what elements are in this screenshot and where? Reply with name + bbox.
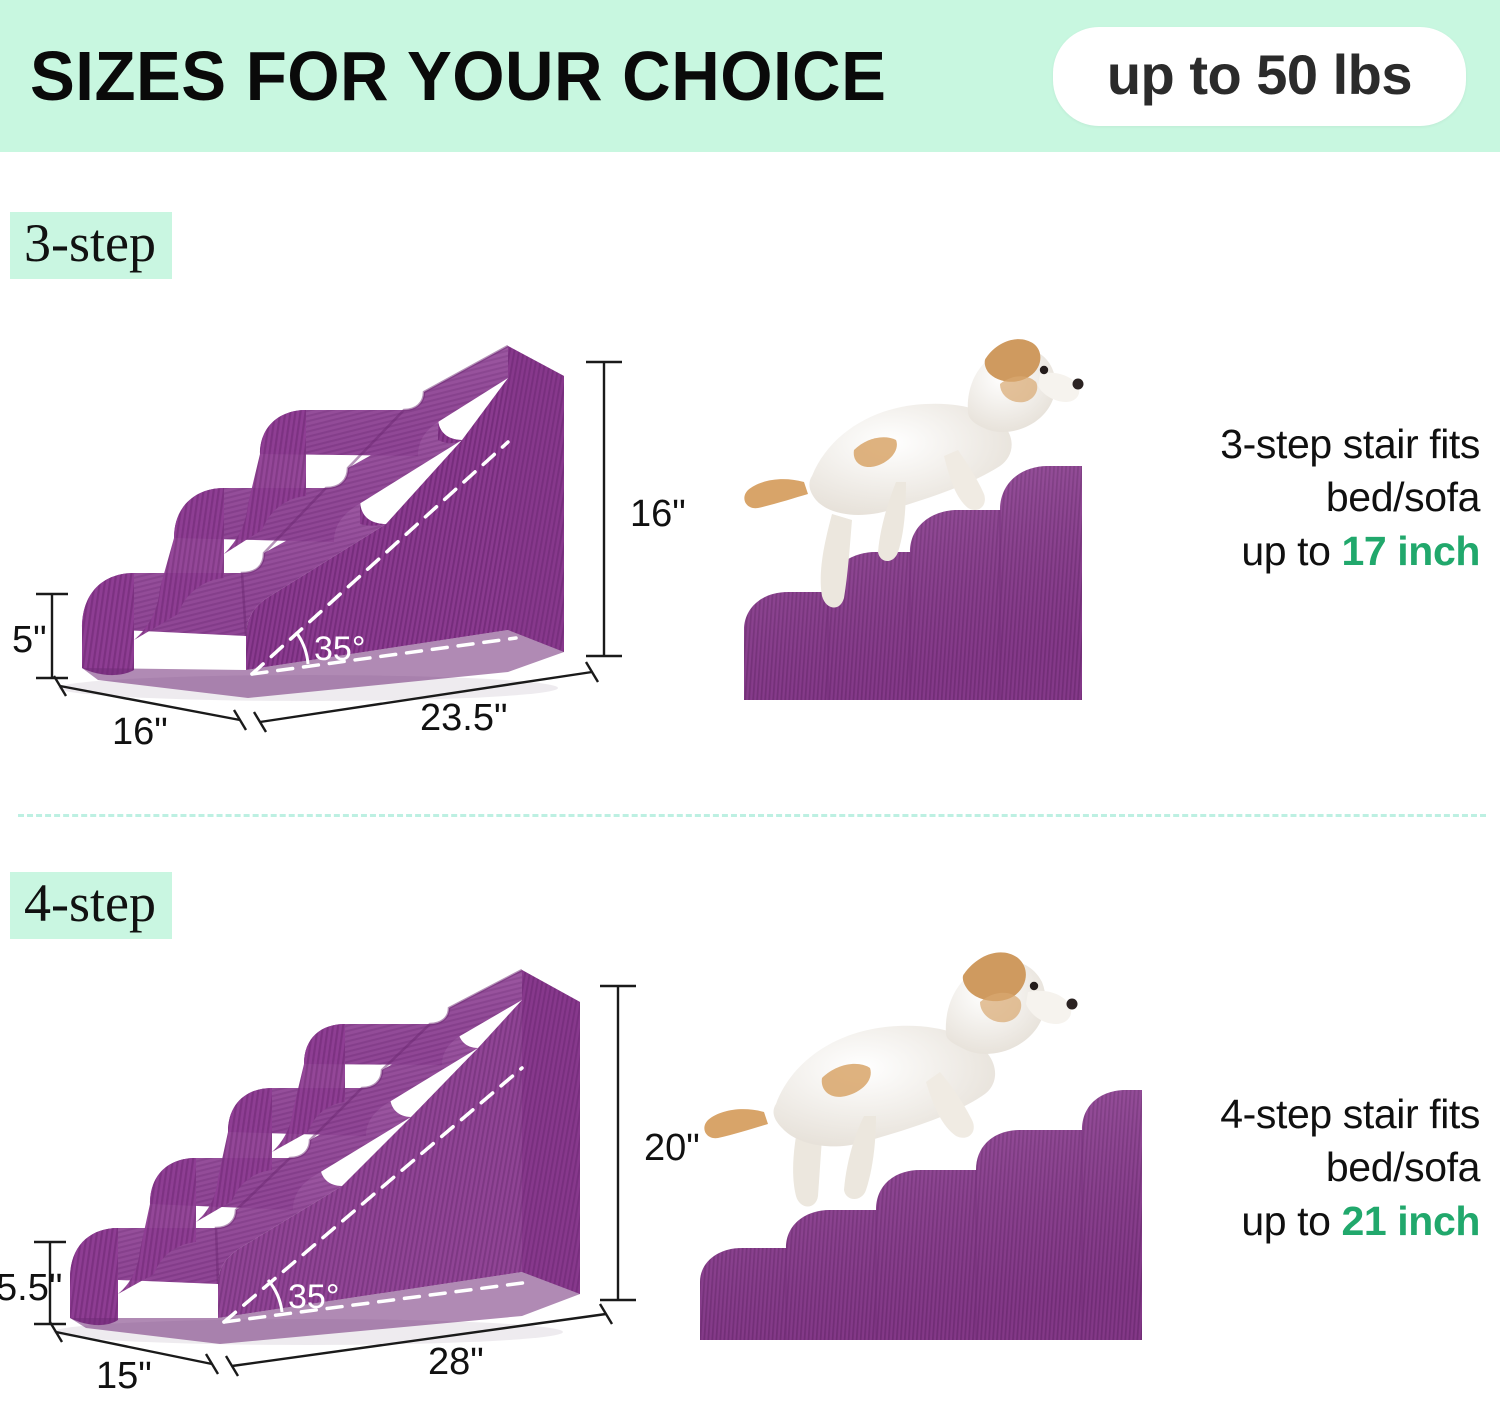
stair-side-view bbox=[700, 1090, 1142, 1340]
dog-tail bbox=[744, 479, 808, 508]
angle-label-4-step: 35° bbox=[288, 1278, 339, 1316]
page-title: SIZES FOR YOUR CHOICE bbox=[30, 36, 886, 116]
dog-nose bbox=[1067, 999, 1078, 1010]
description-3-step: 3-step stair fits bed/sofa up to 17 inch bbox=[1140, 418, 1480, 578]
section-label-3-step: 3-step bbox=[10, 212, 172, 279]
desc-prefix: up to bbox=[1241, 528, 1341, 574]
header-banner: SIZES FOR YOUR CHOICE up to 50 lbs bbox=[0, 0, 1500, 152]
desc-line-3: up to 17 inch bbox=[1140, 525, 1480, 578]
dog-eye bbox=[1040, 366, 1048, 374]
angle-label-3-step: 35° bbox=[314, 630, 365, 668]
dog-nose bbox=[1073, 379, 1084, 390]
desc-line-1: 4-step stair fits bbox=[1140, 1088, 1480, 1141]
dog-eye bbox=[1030, 982, 1038, 990]
photo-dog-on-4-step-stair bbox=[690, 900, 1150, 1350]
desc-line-2: bed/sofa bbox=[1140, 1141, 1480, 1194]
side-wall-texture bbox=[522, 970, 580, 1294]
description-4-step: 4-step stair fits bed/sofa up to 21 inch bbox=[1140, 1088, 1480, 1248]
dim-label-first-step-4-step: 5.5" bbox=[0, 1267, 62, 1309]
side-wall-texture bbox=[508, 346, 564, 652]
riser-front-1 bbox=[70, 1228, 118, 1325]
desc-highlight-height: 21 inch bbox=[1342, 1198, 1480, 1244]
dog-ear bbox=[963, 952, 1026, 1001]
photo-dog-on-3-step-stair bbox=[700, 300, 1130, 720]
weight-capacity-badge: up to 50 lbs bbox=[1053, 27, 1466, 126]
dim-label-first-step-3-step: 5" bbox=[12, 619, 47, 661]
desc-line-2: bed/sofa bbox=[1140, 471, 1480, 524]
dim-label-length-3-step: 23.5" bbox=[420, 697, 507, 739]
desc-line-1: 3-step stair fits bbox=[1140, 418, 1480, 471]
diagram-3-step: 35° 16" 5" 16" 23.5" bbox=[8, 330, 698, 760]
section-label-4-step: 4-step bbox=[10, 872, 172, 939]
dim-label-height-3-step: 16" bbox=[630, 493, 686, 535]
diagram-4-step: 35° 20" 5.5" 15" 28" bbox=[8, 960, 698, 1400]
dim-label-length-4-step: 28" bbox=[428, 1341, 484, 1383]
desc-highlight-height: 17 inch bbox=[1342, 528, 1480, 574]
desc-prefix: up to bbox=[1241, 1198, 1341, 1244]
dog-tail bbox=[704, 1109, 768, 1138]
dim-label-depth-4-step: 15" bbox=[96, 1355, 152, 1397]
section-divider bbox=[18, 814, 1486, 817]
desc-line-3: up to 21 inch bbox=[1140, 1195, 1480, 1248]
dim-label-depth-3-step: 16" bbox=[112, 711, 168, 753]
